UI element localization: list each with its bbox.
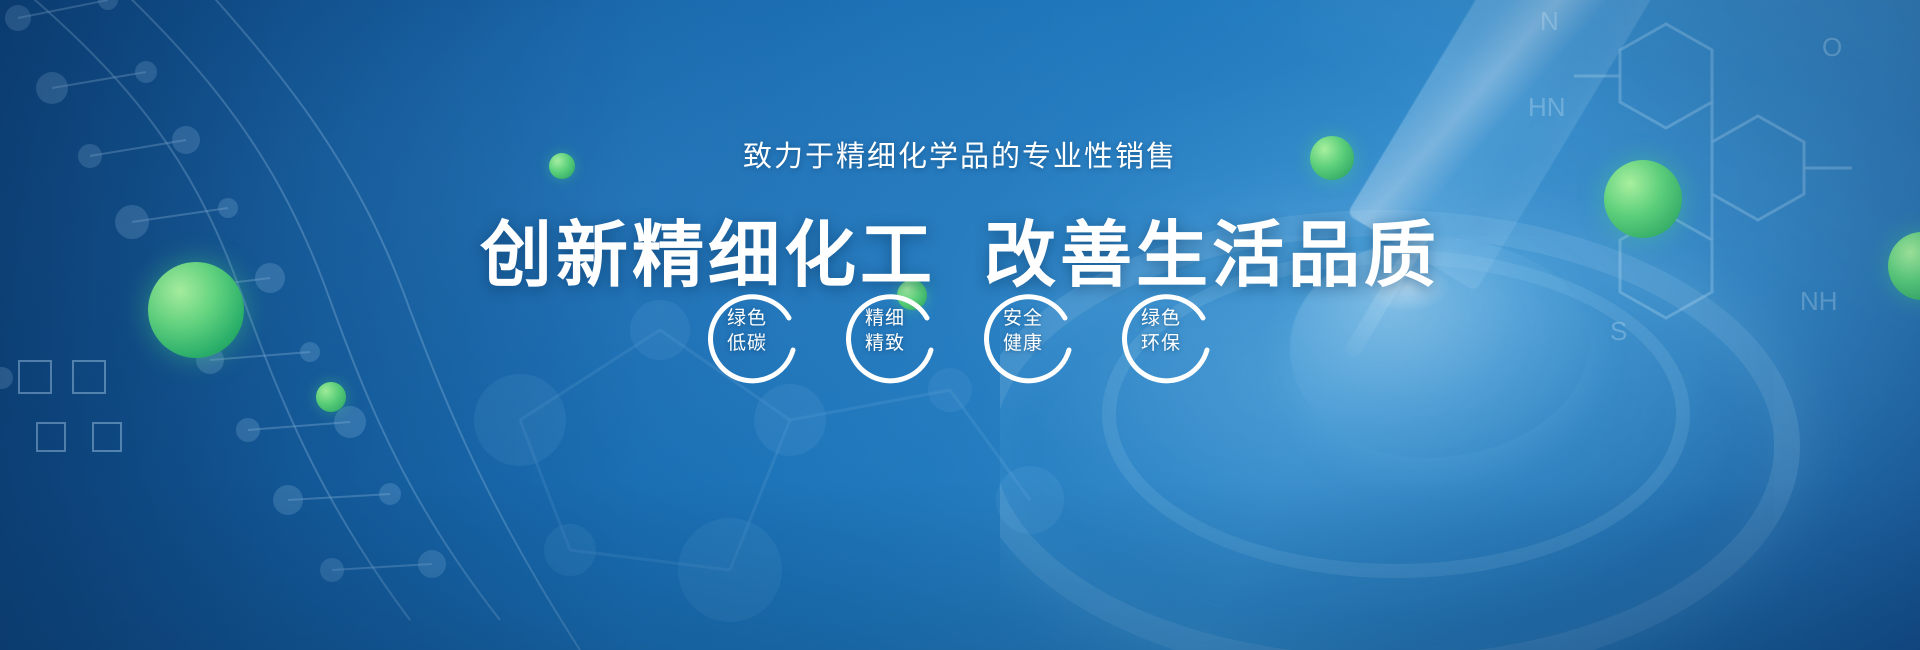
slogan-line-1: 安全 [1003,306,1081,331]
slogan-badge-text: 绿色 环保 [1141,306,1219,356]
slogan-badge-text: 绿色 低碳 [727,306,805,356]
slogan-badge-fine-refined[interactable]: 精细 精致 [839,288,943,392]
slogan-badge-text: 安全 健康 [1003,306,1081,356]
slogan-badge-list: 绿色 低碳 精细 精致 安全 健康 [0,288,1920,392]
banner-content: 致力于精细化学品的专业性销售 创新精细化工 改善生活品质 绿色 低碳 精细 精致 [0,0,1920,650]
slogan-line-2: 精致 [865,331,943,356]
slogan-badge-safe-healthy[interactable]: 安全 健康 [977,288,1081,392]
slogan-line-1: 精细 [865,306,943,331]
hero-banner: N O HN S NH [0,0,1920,650]
slogan-line-2: 健康 [1003,331,1081,356]
banner-title: 创新精细化工 改善生活品质 [0,196,1920,301]
slogan-badge-green-low-carbon[interactable]: 绿色 低碳 [701,288,805,392]
banner-subtitle: 致力于精细化学品的专业性销售 [0,133,1920,175]
slogan-line-1: 绿色 [1141,306,1219,331]
slogan-badge-text: 精细 精致 [865,306,943,356]
slogan-line-1: 绿色 [727,306,805,331]
slogan-line-2: 低碳 [727,331,805,356]
slogan-line-2: 环保 [1141,331,1219,356]
slogan-badge-green-eco[interactable]: 绿色 环保 [1115,288,1219,392]
